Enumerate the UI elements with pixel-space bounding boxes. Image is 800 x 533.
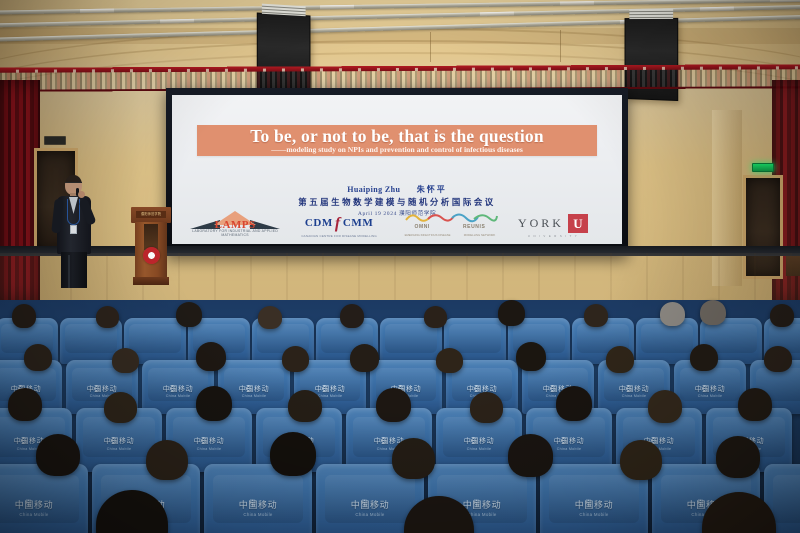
- reunis-subtext: MODELLING NETWORK: [464, 233, 496, 237]
- china-mobile-swirl-icon: [20, 437, 27, 444]
- audience-head: [470, 392, 503, 423]
- presenter-legs: [61, 252, 87, 288]
- slide-title: To be, or not to be, that is the questio…: [197, 127, 598, 145]
- hanger-wire: [430, 32, 431, 62]
- slide-logo-row: LAMPS LABORATORY FOR INDUSTRIAL AND APPL…: [190, 211, 604, 237]
- audience-head: [620, 440, 662, 480]
- audience-head: [392, 438, 435, 479]
- audience-head: [270, 432, 316, 476]
- presenter-person: [52, 175, 96, 288]
- audience-head: [288, 390, 322, 422]
- seat-brand-cn: 中国移动: [204, 498, 312, 511]
- seat-brand-cn: 中国移动: [316, 498, 424, 511]
- lamps-logo: LAMPS LABORATORY FOR INDUSTRIAL AND APPL…: [190, 211, 280, 237]
- audience-head: [584, 304, 608, 327]
- york-university-logo: YORK U U N I V E R S I T Y: [502, 211, 604, 237]
- audience-head: [104, 392, 137, 423]
- audience-head: [556, 386, 592, 421]
- speaker-grill: [262, 4, 306, 17]
- audience-head: [12, 304, 36, 328]
- auditorium-scene: To be, or not to be, that is the questio…: [0, 0, 800, 533]
- omni-subtext: EMERGING INFECTIOUS DISEASE: [405, 233, 451, 237]
- audience-head: [436, 348, 463, 373]
- lectern-podium[interactable]: 濮阳师范学院: [131, 207, 171, 285]
- audience-head: [498, 300, 525, 326]
- china-mobile-swirl-icon: [200, 437, 207, 444]
- speaker-grill: [629, 9, 673, 19]
- seat-branding: 中国移动 China Mobile: [540, 498, 648, 517]
- china-mobile-swirl-icon: [380, 437, 387, 444]
- audience-head: [770, 304, 794, 327]
- exit-sign-left: [44, 136, 66, 145]
- china-mobile-swirl-icon: [701, 385, 708, 392]
- audience-head: [690, 344, 718, 371]
- omni-wave-icon: [404, 211, 498, 224]
- audience-head: [196, 342, 226, 371]
- seat-brand-en: China Mobile: [0, 512, 88, 517]
- slide-title-banner: To be, or not to be, that is the questio…: [197, 125, 598, 156]
- seat-brand-en: China Mobile: [204, 512, 312, 517]
- projection-screen-frame: To be, or not to be, that is the questio…: [166, 88, 628, 256]
- omni-reunis-logo: OMNI REUNIS EMERGING INFECTIOUS DISEASE …: [398, 211, 502, 237]
- audience-head: [716, 436, 760, 478]
- audience-head: [340, 304, 364, 328]
- audience-head: [176, 302, 202, 327]
- china-mobile-swirl-icon: [549, 385, 556, 392]
- eyeglasses-icon: [65, 182, 82, 186]
- audience-head: [508, 434, 553, 477]
- audience-seating-area: 中国移动 China Mobile 中国移动 China Mobile 中国移动…: [0, 300, 800, 533]
- podium-base: [133, 277, 169, 285]
- seat-branding: 中国移动 China Mobile: [0, 498, 88, 517]
- lamps-subtext: LABORATORY FOR INDUSTRIAL AND APPLIED MA…: [190, 229, 280, 237]
- audience-head: [24, 344, 52, 371]
- presenter-name-cn: 朱怀平: [417, 185, 447, 194]
- audience-head: [700, 300, 726, 325]
- york-wordmark: YORK: [518, 216, 564, 231]
- china-mobile-swirl-icon: [361, 499, 368, 506]
- audience-head: [282, 346, 309, 372]
- york-u-badge-icon: U: [568, 214, 588, 233]
- audience-head: [376, 388, 411, 422]
- presentation-slide: To be, or not to be, that is the questio…: [172, 95, 622, 244]
- china-mobile-swirl-icon: [110, 437, 117, 444]
- china-mobile-swirl-icon: [249, 499, 256, 506]
- omni-reunis-wordmarks: OMNI REUNIS: [398, 224, 502, 230]
- presenter-name-line: Huaiping Zhu 朱怀平: [172, 184, 622, 195]
- china-mobile-swirl-icon: [321, 385, 328, 392]
- audience-head: [146, 440, 188, 480]
- china-mobile-swirl-icon: [473, 385, 480, 392]
- audience-head: [36, 434, 80, 476]
- seat-brand-en: China Mobile: [674, 394, 746, 398]
- audience-head: [764, 346, 792, 372]
- omni-reunis-subtexts: EMERGING INFECTIOUS DISEASE MODELLING NE…: [398, 233, 502, 237]
- seat-brand-cn: 中国移动: [436, 436, 522, 446]
- china-mobile-swirl-icon: [169, 385, 176, 392]
- china-mobile-swirl-icon: [585, 499, 592, 506]
- china-mobile-swirl-icon: [697, 499, 704, 506]
- cdm-cmm-wordmark: CDMfCMM: [280, 215, 398, 233]
- cdm-cmm-flask-icon: f: [335, 215, 341, 233]
- seat-brand-cn: 中国移动: [540, 498, 648, 511]
- presenter-leg-split: [68, 255, 70, 288]
- cdm-text: CDM: [305, 217, 333, 229]
- seat-brand-cn: 中国移动: [674, 384, 746, 394]
- presenter-hand: [78, 191, 85, 198]
- seat-branding: 中国移动 China Mobile: [674, 384, 746, 399]
- cmm-text: CMM: [343, 217, 374, 229]
- omni-text: OMNI: [414, 224, 429, 230]
- slide-subtitle: ——modeling study on NPIs and prevention …: [197, 145, 598, 154]
- conference-name-cn: 第五届生物数学建模与随机分析国际会议: [172, 196, 622, 208]
- audience-head: [258, 306, 282, 329]
- seat-brand-cn: 中国移动: [66, 384, 138, 394]
- name-badge: [70, 225, 77, 234]
- seat-row4[interactable]: 中国移动 China Mobile: [0, 464, 88, 533]
- presenter-name-en: Huaiping Zhu: [347, 185, 400, 194]
- audience-head: [516, 342, 546, 371]
- university-crest-icon: [143, 247, 160, 264]
- seat-brand-cn: 中国移动: [0, 498, 88, 511]
- seat-brand-cn: 中国移动: [218, 384, 290, 394]
- audience-head: [606, 346, 634, 373]
- audience-head: [660, 302, 685, 326]
- audience-head: [8, 388, 42, 421]
- seat-branding: 中国移动 China Mobile: [204, 498, 312, 517]
- china-mobile-swirl-icon: [93, 385, 100, 392]
- cdm-cmm-subtext: CANADIAN CENTRE FOR DISEASE MODELLING: [280, 234, 398, 238]
- reunis-text: REUNIS: [463, 224, 486, 230]
- audience-head: [350, 344, 379, 372]
- exit-sign-right: [752, 163, 774, 172]
- china-mobile-swirl-icon: [245, 385, 252, 392]
- china-mobile-swirl-icon: [560, 437, 567, 444]
- audience-head: [112, 348, 139, 373]
- audience-head: [424, 306, 447, 328]
- york-subtext: U N I V E R S I T Y: [502, 234, 604, 238]
- audience-head: [738, 388, 772, 421]
- projection-screen: To be, or not to be, that is the questio…: [172, 95, 622, 244]
- seat-brand-en: China Mobile: [540, 512, 648, 517]
- china-mobile-swirl-icon: [25, 499, 32, 506]
- china-mobile-swirl-icon: [473, 499, 480, 506]
- lanyard: [67, 199, 80, 225]
- seat-brand-cn: 中国移动: [76, 436, 162, 446]
- audience-head: [96, 306, 119, 328]
- cdm-cmm-logo: CDMfCMM CANADIAN CENTRE FOR DISEASE MODE…: [280, 211, 398, 237]
- hanger-wire: [560, 30, 561, 62]
- podium-nameplate: 濮阳师范学院: [136, 211, 166, 218]
- audience-head: [196, 386, 232, 421]
- audience-head: [648, 390, 682, 423]
- china-mobile-swirl-icon: [470, 437, 477, 444]
- china-mobile-swirl-icon: [625, 385, 632, 392]
